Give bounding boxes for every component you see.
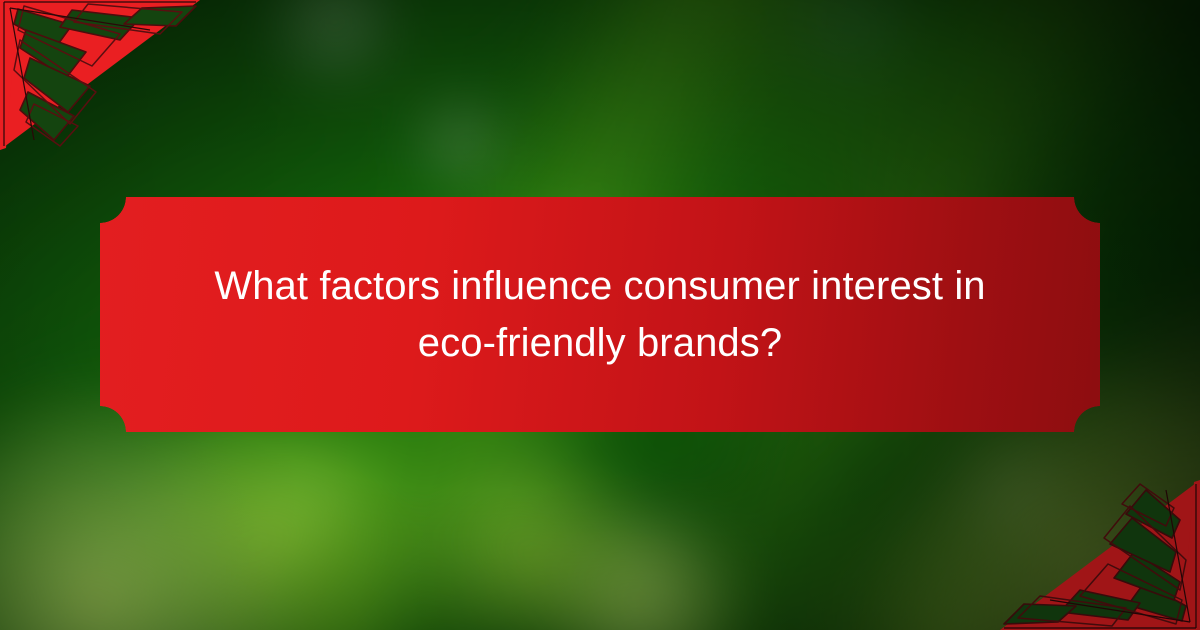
question-banner: What factors influence consumer interest… bbox=[100, 197, 1100, 432]
question-card: What factors influence consumer interest… bbox=[0, 0, 1200, 630]
question-title: What factors influence consumer interest… bbox=[110, 258, 1090, 372]
